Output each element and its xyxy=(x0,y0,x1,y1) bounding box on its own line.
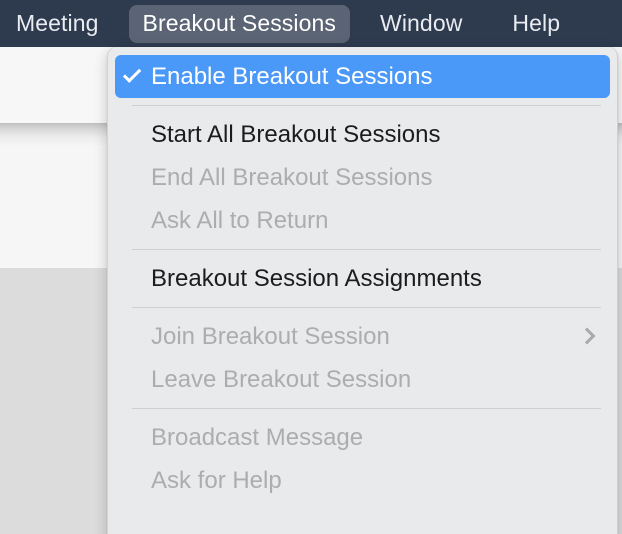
menu-item-ask-all-to-return: Ask All to Return xyxy=(115,199,610,242)
menu-item-label: Leave Breakout Session xyxy=(151,366,598,394)
menu-item-leave-breakout-session: Leave Breakout Session xyxy=(115,358,610,401)
menu-separator xyxy=(132,249,601,250)
menu-item-start-all-breakout-sessions[interactable]: Start All Breakout Sessions xyxy=(115,113,610,156)
breakout-sessions-dropdown-menu: Enable Breakout Sessions Start All Break… xyxy=(107,47,618,534)
menu-separator xyxy=(132,408,601,409)
menubar-item-help[interactable]: Help xyxy=(498,5,574,43)
menu-item-broadcast-message: Broadcast Message xyxy=(115,416,610,459)
menu-item-label: Ask All to Return xyxy=(151,207,598,235)
menu-bar: Meeting Breakout Sessions Window Help xyxy=(0,0,622,47)
menu-item-label: Start All Breakout Sessions xyxy=(151,121,598,149)
menu-item-label: End All Breakout Sessions xyxy=(151,164,598,192)
menu-item-label: Broadcast Message xyxy=(151,424,598,452)
menu-item-join-breakout-session: Join Breakout Session xyxy=(115,315,610,358)
menubar-item-label: Window xyxy=(380,10,462,37)
screen: Meeting Breakout Sessions Window Help En… xyxy=(0,0,622,534)
checkmark-icon xyxy=(125,72,151,81)
menubar-item-breakout-sessions[interactable]: Breakout Sessions xyxy=(129,5,350,43)
menubar-item-label: Breakout Sessions xyxy=(143,10,336,37)
menu-item-label: Breakout Session Assignments xyxy=(151,265,598,293)
menu-item-label: Ask for Help xyxy=(151,467,598,495)
menubar-item-label: Help xyxy=(512,10,560,37)
menu-item-enable-breakout-sessions[interactable]: Enable Breakout Sessions xyxy=(115,55,610,98)
chevron-right-icon xyxy=(580,326,594,348)
menu-item-breakout-session-assignments[interactable]: Breakout Session Assignments xyxy=(115,257,610,300)
menubar-item-window[interactable]: Window xyxy=(366,5,476,43)
menubar-item-meeting[interactable]: Meeting xyxy=(2,5,113,43)
menu-item-label: Join Breakout Session xyxy=(151,323,580,351)
menu-item-label: Enable Breakout Sessions xyxy=(151,63,598,91)
menu-separator xyxy=(132,105,601,106)
menu-item-end-all-breakout-sessions: End All Breakout Sessions xyxy=(115,156,610,199)
menu-separator xyxy=(132,307,601,308)
menu-item-ask-for-help: Ask for Help xyxy=(115,459,610,502)
menubar-item-label: Meeting xyxy=(16,10,99,37)
